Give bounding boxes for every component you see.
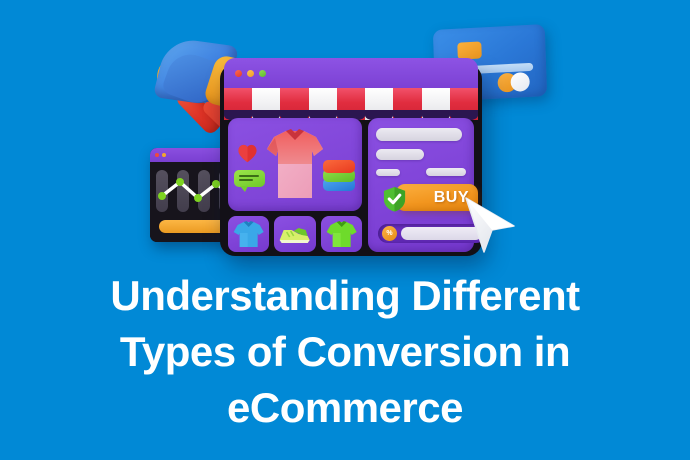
online-store-window: BUY % (220, 64, 482, 256)
card-chip-icon (457, 41, 482, 59)
shop-awning (224, 88, 478, 120)
title-line-2: Types of Conversion in (22, 324, 668, 380)
title-line-3: eCommerce (22, 380, 668, 436)
chat-bubble-icon[interactable] (234, 170, 265, 187)
page-title: Understanding Different Types of Convers… (0, 268, 690, 436)
sneaker-icon (274, 216, 315, 252)
card-logo-circle-white (510, 72, 530, 92)
blue-shirt-icon (228, 216, 269, 252)
store-window-body: BUY % (228, 118, 474, 252)
color-swatch-stack[interactable] (323, 160, 355, 196)
window-minimize-dot-icon[interactable] (247, 70, 254, 77)
product-detail-panel: BUY % (368, 118, 474, 252)
thumbnail-blue-shirt[interactable] (228, 216, 269, 252)
store-window-titlebar (224, 58, 478, 88)
discount-percent-badge: % (382, 226, 397, 241)
title-line-1: Understanding Different (22, 268, 668, 324)
mouse-cursor-arrow (462, 196, 518, 258)
detail-placeholder-row (376, 168, 466, 176)
window-close-dot-icon[interactable] (235, 70, 242, 77)
product-gallery-panel (228, 118, 362, 252)
thumbnail-sneaker[interactable] (274, 216, 315, 252)
detail-placeholder-line (376, 128, 462, 141)
tshirt-product[interactable] (228, 118, 362, 211)
window-dot-red-icon (155, 153, 159, 157)
heart-icon[interactable] (237, 144, 258, 163)
product-thumbnails (228, 216, 362, 252)
thumbnail-green-shirt[interactable] (321, 216, 362, 252)
card-logo-icon (497, 72, 534, 93)
detail-placeholder-line (376, 169, 400, 176)
poster-canvas: BUY % (0, 0, 690, 460)
window-maximize-dot-icon[interactable] (259, 70, 266, 77)
tshirt-image (264, 126, 326, 204)
verified-check-shield-icon (382, 186, 407, 212)
swatch-red (323, 160, 355, 173)
ecommerce-3d-illustration: BUY % (0, 0, 690, 262)
green-shirt-icon (321, 216, 362, 252)
detail-placeholder-line (426, 168, 466, 176)
detail-placeholder-line (376, 149, 424, 160)
window-dot-yellow-icon (162, 153, 166, 157)
